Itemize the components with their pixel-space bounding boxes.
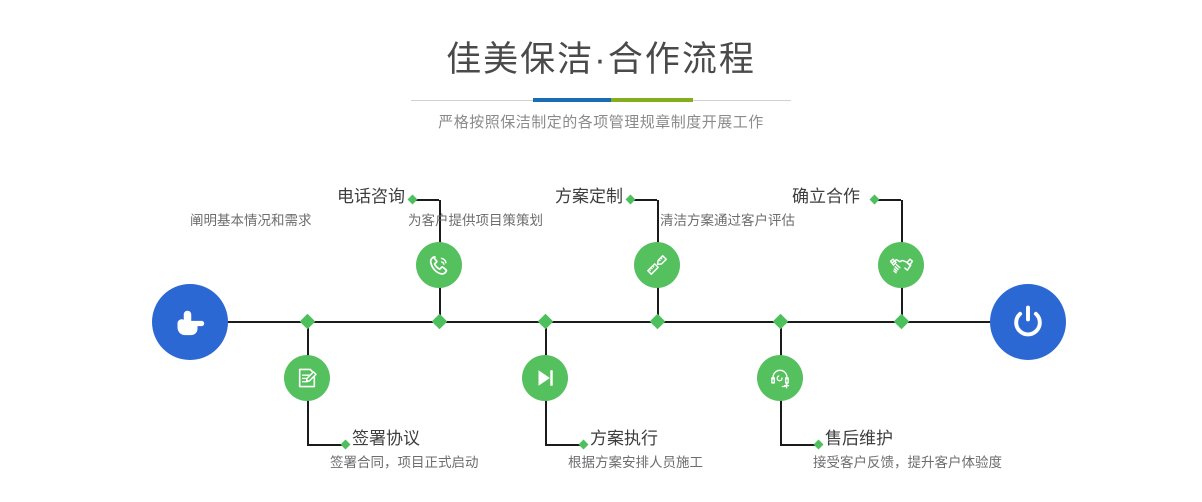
play-to-end-icon [532,365,558,391]
step-desc-2: 签署合同，项目正式启动 [330,453,582,473]
handshake-icon [888,252,915,279]
page-title: 佳美保洁·合作流程 [0,38,1202,82]
step-label-5: 确立合作 清洁方案通过客户评估 [660,186,860,231]
step-label-2: 签署协议 签署合同，项目正式启动 [352,428,582,473]
step-title-4: 方案执行 [590,428,830,450]
step-desc-5: 清洁方案通过客户评估 [660,211,860,231]
axis-marker-1 [432,314,448,330]
axis-marker-5 [894,314,910,330]
step-label-3: 方案定制 为客户提供项目策策划 [408,186,623,231]
step-node-1[interactable] [416,242,462,288]
axis-marker-3 [650,314,666,330]
label-tip-5 [870,195,880,205]
flow-start-endpoint [152,284,228,360]
label-tip-3 [626,195,636,205]
phone-call-icon [426,252,452,278]
title-divider [411,98,791,102]
label-tip-2 [341,440,351,450]
step-node-3[interactable] [634,242,680,288]
page-header: 佳美保洁·合作流程 严格按照保洁制定的各项管理规章制度开展工作 [0,0,1202,132]
axis-marker-4 [538,314,554,330]
step-node-2[interactable] [284,355,330,401]
contract-document-icon [294,365,320,391]
step-label-1: 电话咨询 阐明基本情况和需求 [190,186,405,231]
step-title-6: 售后维护 [825,428,1085,450]
step-label-4: 方案执行 根据方案安排人员施工 [590,428,830,473]
connector-horizontal-5 [876,199,901,201]
axis-marker-2 [300,314,316,330]
page-subtitle: 严格按照保洁制定的各项管理规章制度开展工作 [0,111,1202,132]
step-node-4[interactable] [522,355,568,401]
step-node-6[interactable] [757,355,803,401]
divider-segment-blue [533,98,611,102]
step-title-3: 方案定制 [408,186,623,208]
customer-service-add-icon [767,365,793,391]
step-desc-1: 阐明基本情况和需求 [190,211,405,231]
step-title-1: 电话咨询 [190,186,405,208]
step-desc-6: 接受客户反馈，提升客户体验度 [813,453,1085,473]
flow-end-endpoint [990,284,1066,360]
step-desc-4: 根据方案安排人员施工 [568,453,830,473]
flow-diagram-canvas: 佳美保洁·合作流程 严格按照保洁制定的各项管理规章制度开展工作 电话 [0,0,1202,502]
pointing-hand-icon [170,302,210,342]
connector-horizontal-3 [632,199,657,201]
step-desc-3: 为客户提供项目策策划 [408,211,623,231]
connector-horizontal-2 [307,444,345,446]
step-title-2: 签署协议 [352,428,582,450]
axis-marker-6 [773,314,789,330]
step-node-5[interactable] [878,242,924,288]
divider-segment-green [611,98,693,102]
step-title-5: 确立合作 [660,186,860,208]
step-label-6: 售后维护 接受客户反馈，提升客户体验度 [825,428,1085,473]
power-button-icon [1007,301,1049,343]
pencil-ruler-icon [644,252,670,278]
